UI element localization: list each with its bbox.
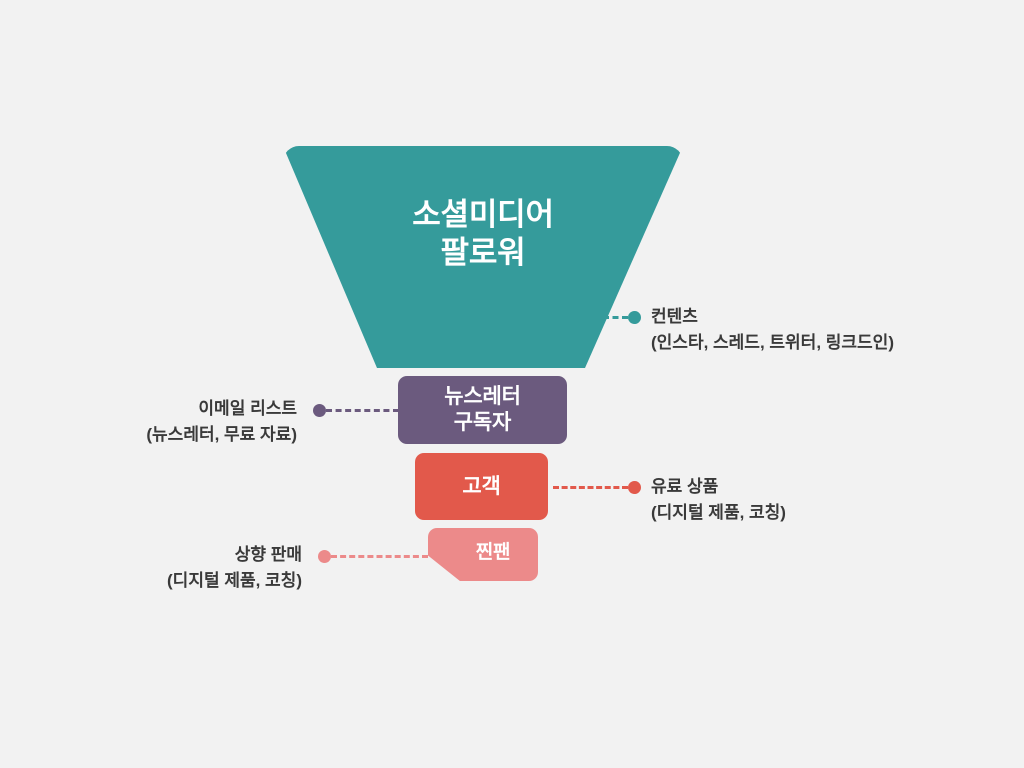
funnel-diagram-canvas: 소셜미디어 팔로워 컨텐츠 (인스타, 스레드, 트위터, 링크드인) 뉴스레터…: [0, 0, 1024, 768]
funnel-stage-newsletter-subscribers[interactable]: 뉴스레터 구독자: [398, 376, 567, 444]
annotation-line-2: (디지털 제품, 코칭): [167, 568, 302, 594]
funnel-stage-customers[interactable]: 고객: [415, 453, 548, 520]
connector-dot-icon: [318, 550, 331, 563]
annotation-line-2: (디지털 제품, 코칭): [651, 500, 786, 526]
annotation-line-1: 컨텐츠: [651, 304, 894, 330]
funnel-stage-true-fans-label: 찐팬: [476, 541, 511, 564]
connector-dashed-line: [603, 316, 628, 319]
funnel-stage-social-media-followers[interactable]: 소셜미디어 팔로워: [283, 146, 683, 368]
connector-true-fans: [318, 549, 428, 563]
stage-title-line-2: 구독자: [444, 410, 520, 436]
annotation-true-fans: 상향 판매 (디지털 제품, 코칭): [167, 542, 302, 595]
annotation-line-1: 상향 판매: [167, 542, 302, 568]
stage-title-line-1: 뉴스레터: [444, 384, 520, 410]
connector-social-media-followers: [603, 310, 641, 324]
funnel-stage-customers-label: 고객: [462, 474, 500, 500]
connector-newsletter-subscribers: [313, 403, 399, 417]
annotation-line-1: 유료 상품: [651, 474, 786, 500]
connector-dashed-line: [553, 486, 628, 489]
connector-customers: [553, 480, 641, 494]
annotation-line-2: (뉴스레터, 무료 자료): [146, 422, 297, 448]
funnel-stage-newsletter-subscribers-label: 뉴스레터 구독자: [444, 384, 520, 435]
stage-title-line-1: 고객: [462, 474, 500, 500]
connector-dot-icon: [628, 481, 641, 494]
connector-dot-icon: [628, 311, 641, 324]
stage-title-line-2: 팔로워: [412, 234, 554, 272]
connector-dashed-line: [331, 555, 428, 558]
stage-title-line-1: 찐팬: [476, 541, 511, 564]
funnel-stage-social-media-followers-label: 소셜미디어 팔로워: [412, 196, 554, 272]
annotation-social-media-followers: 컨텐츠 (인스타, 스레드, 트위터, 링크드인): [651, 304, 894, 357]
annotation-line-1: 이메일 리스트: [146, 396, 297, 422]
stage-title-line-1: 소셜미디어: [412, 196, 554, 234]
annotation-line-2: (인스타, 스레드, 트위터, 링크드인): [651, 330, 894, 356]
annotation-newsletter-subscribers: 이메일 리스트 (뉴스레터, 무료 자료): [146, 396, 297, 449]
connector-dashed-line: [326, 409, 399, 412]
annotation-customers: 유료 상품 (디지털 제품, 코칭): [651, 474, 786, 527]
connector-dot-icon: [313, 404, 326, 417]
funnel-stage-true-fans[interactable]: 찐팬: [428, 528, 538, 581]
